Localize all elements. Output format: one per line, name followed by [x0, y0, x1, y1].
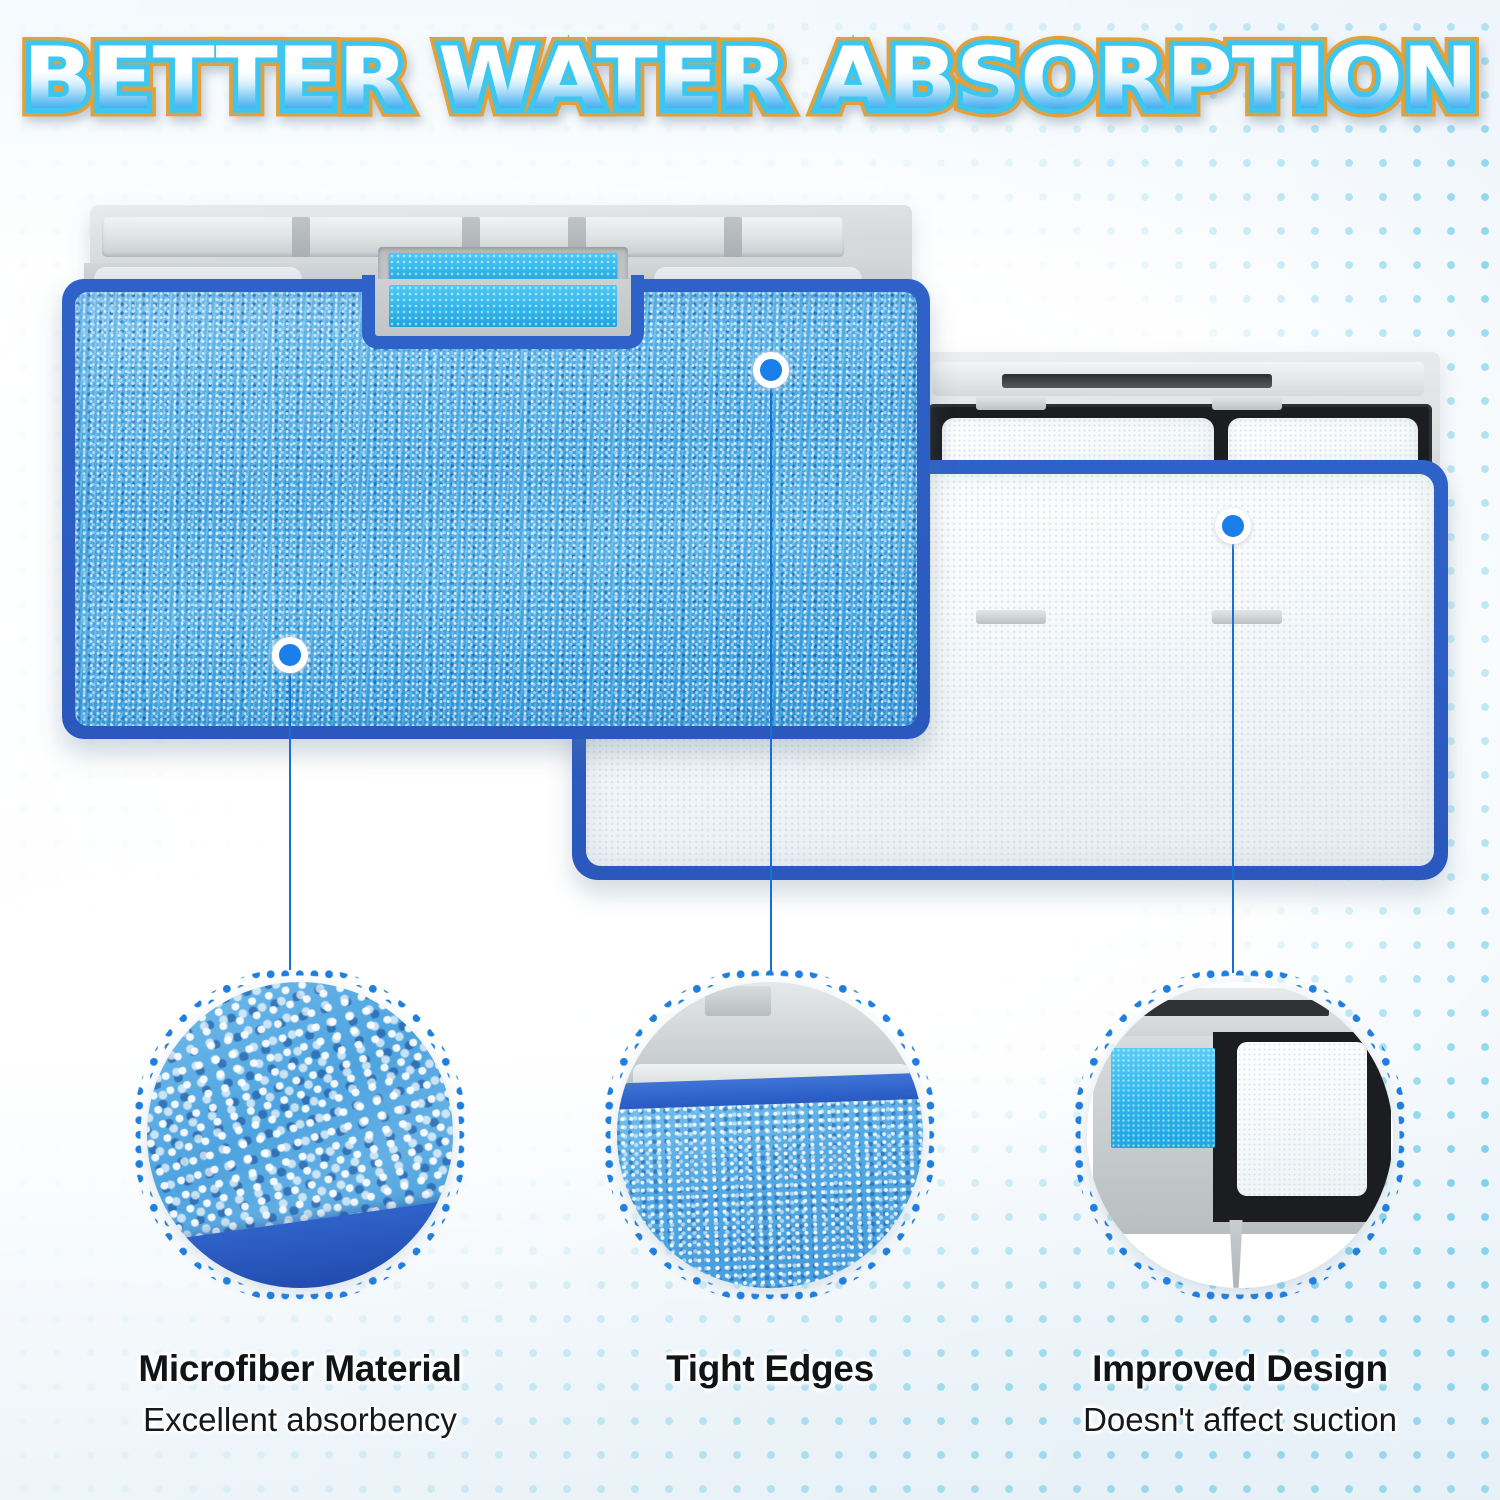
- callout-line-improved-design: [1232, 543, 1234, 973]
- caption-title-microfiber: Microfiber Material: [40, 1348, 560, 1390]
- caption-title-tight-edges: Tight Edges: [540, 1348, 1000, 1390]
- caption-subtitle-improved-design: Doesn't affect suction: [1000, 1401, 1480, 1439]
- mop-pad-notch-border: [362, 275, 644, 349]
- caption-tight-edges: Tight Edges: [540, 1348, 1000, 1390]
- filter-clip-top-right: [1212, 396, 1282, 410]
- filter-assembly-closeup-icon: [1111, 1048, 1215, 1148]
- plate-rail-notch-4: [724, 217, 742, 257]
- detail-photo-improved-design: [1087, 982, 1393, 1288]
- filter-clip-top-left: [976, 396, 1046, 410]
- caption-microfiber: Microfiber Material Excellent absorbency: [40, 1348, 560, 1439]
- filter-clip-bottom-right: [1212, 610, 1282, 624]
- plate-top-slot-closeup: [1129, 1000, 1329, 1016]
- callout-dot-microfiber[interactable]: [272, 637, 308, 673]
- caption-title-improved-design: Improved Design: [1000, 1348, 1480, 1390]
- headline-banner: BETTER WATER ABSORPTION BETTER WATER ABS…: [0, 24, 1500, 134]
- callout-line-tight-edges: [770, 387, 772, 972]
- callout-dot-tight-edges[interactable]: [753, 352, 789, 388]
- microfiber-face-closeup: [617, 1098, 923, 1288]
- detail-photo-microfiber: [147, 982, 453, 1288]
- caption-improved-design: Improved Design Doesn't affect suction: [1000, 1348, 1480, 1439]
- callout-dot-improved-design[interactable]: [1215, 508, 1251, 544]
- caption-subtitle-microfiber: Excellent absorbency: [40, 1401, 560, 1439]
- filter-panel-closeup: [1237, 1042, 1367, 1196]
- detail-circle-improved-design: [1072, 967, 1408, 1303]
- detail-photo-tight-edges: [617, 982, 923, 1288]
- filter-clip-bottom-left: [976, 610, 1046, 624]
- mop-pad-blue-texture: [75, 292, 917, 726]
- plate-notch-closeup: [705, 986, 771, 1016]
- headline-fill: BETTER WATER ABSORPTION: [23, 29, 1477, 129]
- detail-circle-tight-edges: [602, 967, 938, 1303]
- detail-circle-microfiber: [132, 967, 468, 1303]
- product-mop-pad-front: [62, 205, 932, 745]
- headline: BETTER WATER ABSORPTION BETTER WATER ABS…: [23, 29, 1477, 129]
- callout-line-microfiber: [289, 672, 291, 970]
- plate-rail-notch-1: [292, 217, 310, 257]
- plate-top-rail-slot: [1002, 374, 1272, 388]
- product-infographic: BETTER WATER ABSORPTION BETTER WATER ABS…: [0, 0, 1500, 1500]
